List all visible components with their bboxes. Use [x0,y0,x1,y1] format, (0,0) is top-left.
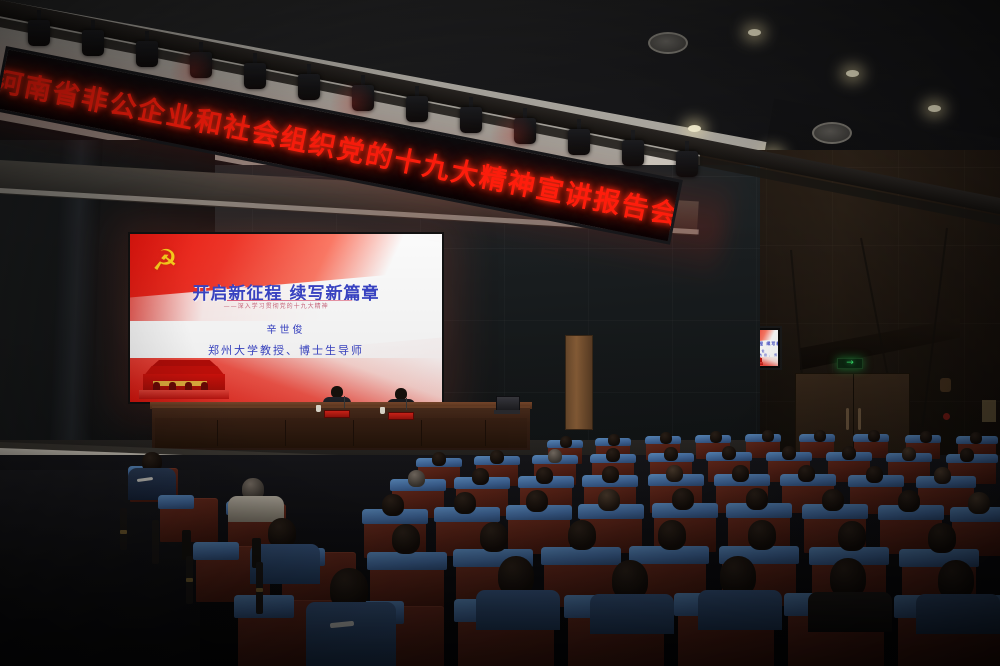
name-card [324,410,350,418]
audience-head [722,446,736,460]
audience-head [960,448,974,462]
audience-head [432,452,446,466]
audience-head [454,492,476,514]
stage-par-light [28,18,50,48]
stage-par-light [244,61,266,91]
recessed-downlight [928,105,941,112]
audience-head [660,432,672,444]
recessed-downlight [846,70,859,77]
audience-head [548,449,562,463]
audience-torso [476,590,560,630]
audience-head [568,520,596,550]
audience-head [606,448,620,462]
audience-head [782,446,796,460]
audience-head [814,430,826,442]
stage-par-light [82,28,104,58]
audience-head [822,489,844,511]
audience-head [536,467,553,484]
audience-head [842,446,856,460]
audience-head [732,465,749,482]
audience-head [666,465,683,482]
audience-head [868,430,880,442]
audience-torso [698,590,782,630]
seat-leg [120,508,127,550]
stage-par-light [568,127,590,157]
seat-leg-marker [186,578,193,582]
audience-head [798,465,815,482]
audience-head [658,520,686,550]
audience-head [968,492,990,514]
slide-subtitle: ——深入学习贯彻党的十九大精神 [224,301,411,310]
recessed-downlight [688,125,701,132]
audience-head [392,524,420,554]
audience-head [746,488,768,510]
led-projection-screen: ☭ 开启新征程 续写新篇章 ——深入学习贯彻党的十九大精神 辛世俊 郑州大学教授… [128,232,444,404]
head-table-skirt [155,418,527,448]
stage-par-light [676,149,698,179]
air-vent-icon [812,122,852,144]
stage-par-light [622,138,644,168]
audience-head [920,431,932,443]
exit-sign: → [837,358,863,369]
water-cup [380,407,385,414]
audience-head [748,520,776,550]
seat-leg [152,520,159,564]
audience-torso [590,594,674,634]
name-card [388,412,414,420]
laptop-base [494,410,520,414]
audience-head [934,467,951,484]
audience-head [970,432,982,444]
recessed-downlight [748,29,761,36]
audience-head [928,523,956,553]
wall-notice-sign [982,400,996,422]
seat-leg-marker [120,530,127,534]
audience-torso [916,594,1000,634]
audience-head [472,468,489,485]
stage-par-light [460,105,482,135]
door-handle[interactable] [858,408,861,430]
audience-head [408,470,425,487]
tiananmen-gate-icon [139,355,229,399]
audience-head [762,430,774,442]
microphone-icon [406,398,407,410]
air-vent-icon [648,32,688,54]
door-handle[interactable] [846,408,849,430]
audience-head [526,490,548,512]
microphone-icon [344,396,345,408]
audience-head [608,434,620,446]
water-cup [316,405,321,412]
audience-head [602,466,619,483]
audience-torso [306,602,396,666]
stage-par-light [298,72,320,102]
stage-par-light [406,94,428,124]
audience-head [902,447,916,461]
audience-head [710,431,722,443]
slide-speaker-name: 辛世俊 [130,321,442,336]
audience-head [480,522,508,552]
wall-speaker-icon [940,378,951,392]
audience-head [664,447,678,461]
stage-side-door[interactable] [565,335,593,430]
audience-head [560,436,572,448]
audience-head [898,490,920,512]
seat-leg-marker [256,588,263,592]
audience-head [490,450,504,464]
fire-alarm-icon [943,413,950,420]
audience-torso [808,592,892,632]
audience-head [598,489,620,511]
party-emblem-icon: ☭ [152,246,196,280]
stage-par-light [136,39,158,69]
audience-head [672,488,694,510]
audience-head [382,494,404,516]
audience-head [838,521,866,551]
laptop[interactable] [496,396,520,411]
audience-head [866,466,883,483]
exit-arrow-icon: → [846,359,854,368]
auditorium-photo: → ☭ 开启新征程 续写新篇章 辛世俊 郑州大学教授、博士生导师 [0,0,1000,666]
presentation-slide: ☭ 开启新征程 续写新篇章 ——深入学习贯彻党的十九大精神 辛世俊 郑州大学教授… [130,234,442,402]
